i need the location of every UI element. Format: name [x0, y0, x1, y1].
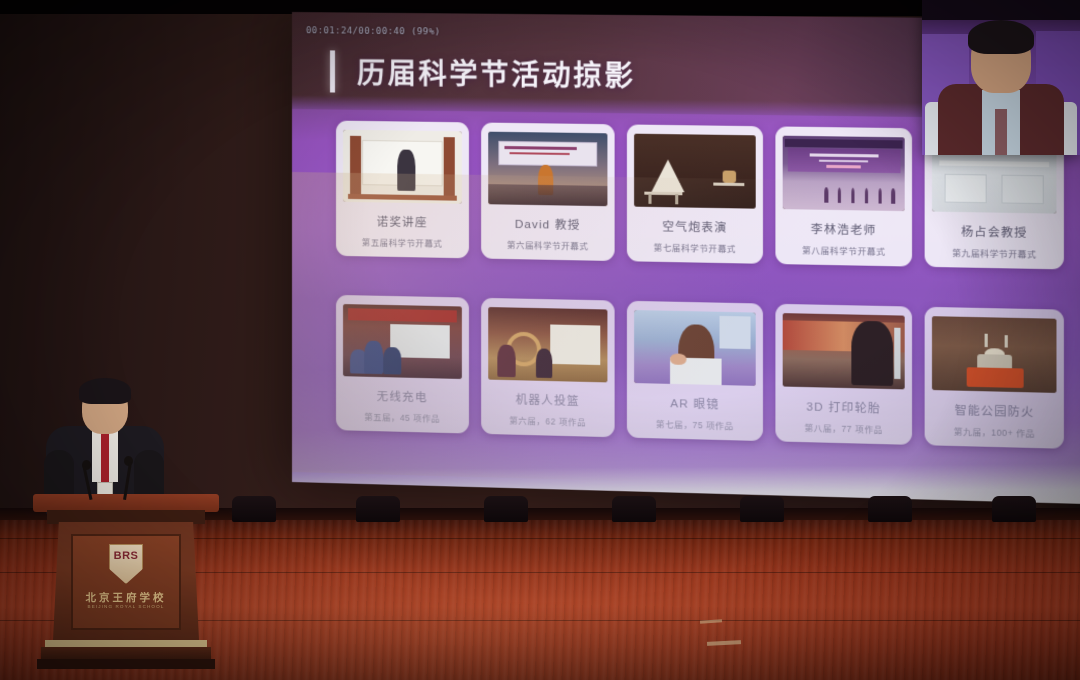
- card-title: David 教授: [515, 216, 581, 233]
- card-subtitle: 第五届科学节开幕式: [362, 236, 442, 250]
- card-subtitle: 第六届科学节开幕式: [507, 239, 588, 253]
- slide-title: 历届科学节活动掠影: [357, 52, 636, 95]
- title-accent-bar: [330, 50, 335, 92]
- stage-monitor: [992, 496, 1036, 522]
- stage-monitor: [484, 496, 528, 522]
- card-ar-glasses[interactable]: AR 眼镜 第七届，75 项作品: [627, 301, 763, 441]
- card-title: AR 眼镜: [670, 395, 719, 412]
- card-subtitle: 第九届科学节开幕式: [952, 247, 1036, 261]
- air-cannon-thumb: [634, 134, 755, 209]
- school-name-cn: 北京王府学校: [71, 590, 181, 605]
- 3d-print-thumb: [782, 313, 905, 389]
- card-title: 李林浩老师: [811, 221, 877, 238]
- stage-banner-thumb: [488, 132, 608, 207]
- card-subtitle: 第八届，77 项作品: [804, 422, 883, 436]
- card-subtitle: 第七届科学节开幕式: [654, 241, 736, 255]
- card-title: 无线充电: [377, 388, 428, 405]
- stage-monitor: [868, 496, 912, 522]
- card-subtitle: 第八届科学节开幕式: [802, 244, 885, 258]
- card-nobel-lecture[interactable]: 诺奖讲座 第五届科学节开幕式: [336, 121, 469, 259]
- stage-monitor: [612, 496, 656, 522]
- crest-initials: BRS: [109, 550, 143, 562]
- card-subtitle: 第九届，100+ 作品: [954, 425, 1035, 439]
- robot-basketball-thumb: [488, 307, 608, 382]
- card-robot-basketball[interactable]: 机器人投篮 第六届，62 项作品: [481, 298, 615, 437]
- fire-safety-thumb: [932, 316, 1056, 393]
- card-title: 机器人投篮: [516, 391, 580, 409]
- stage-monitor: [232, 496, 276, 522]
- slide-title-row: 历届科学节活动掠影: [330, 50, 636, 96]
- expo-crowd-thumb: [343, 304, 461, 379]
- card-subtitle: 第五届，45 项作品: [364, 411, 440, 425]
- card-air-cannon-show[interactable]: 空气炮表演 第七届科学节开幕式: [627, 124, 763, 263]
- stage-monitor: [356, 496, 400, 522]
- card-title: 空气炮表演: [662, 218, 727, 235]
- card-teacher-lilinhao[interactable]: 李林浩老师 第八届科学节开幕式: [775, 126, 912, 266]
- speaker-person: [44, 378, 164, 513]
- speaker-video-overlay: [922, 0, 1080, 155]
- card-wireless-charging[interactable]: 无线充电 第五届，45 项作品: [336, 295, 469, 434]
- card-title: 智能公园防火: [954, 402, 1034, 420]
- card-title: 诺奖讲座: [377, 213, 428, 230]
- card-3d-printed-tire[interactable]: 3D 打印轮胎 第八届，77 项作品: [775, 304, 912, 445]
- card-subtitle: 第七届，75 项作品: [656, 418, 734, 432]
- ceremony-thumb: [782, 136, 905, 211]
- stage-monitor: [740, 496, 784, 522]
- video-timecode: 00:01:24/00:00:40 (99%): [306, 26, 440, 37]
- lectern-podium: BRS 北京王府学校 BEIJING ROYAL SCHOOL: [33, 494, 219, 674]
- card-subtitle: 第六届，62 项作品: [509, 414, 586, 428]
- card-title: 3D 打印轮胎: [806, 398, 881, 416]
- card-title: 杨占会教授: [961, 223, 1027, 241]
- lecture-thumb: [343, 130, 461, 204]
- ar-glasses-thumb: [634, 310, 755, 386]
- school-name-en: BEIJING ROYAL SCHOOL: [71, 604, 181, 609]
- auditorium-scene: 00:01:24/00:00:40 (99%) 历届科学节活动掠影 诺奖讲座 第…: [0, 0, 1080, 680]
- card-grid-row-2: 无线充电 第五届，45 项作品 机器人投篮 第六届，62 项作品 AR 眼镜 第…: [336, 295, 1064, 449]
- card-smart-park-fire-prevention[interactable]: 智能公园防火 第九届，100+ 作品: [925, 307, 1064, 449]
- card-professor-david[interactable]: David 教授 第六届科学节开幕式: [481, 123, 615, 262]
